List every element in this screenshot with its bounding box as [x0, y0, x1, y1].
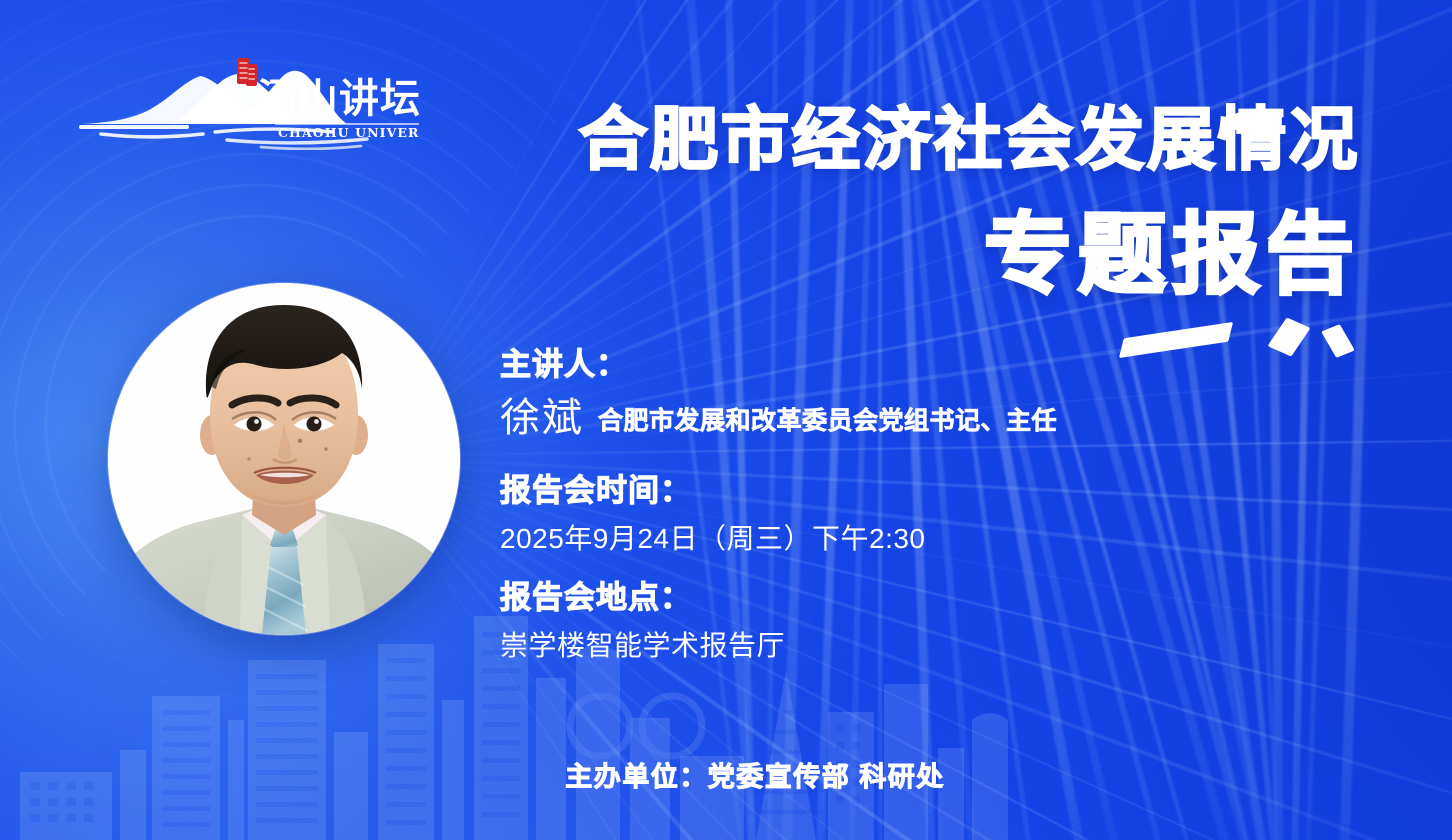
time-value: 2025年9月24日（周三）下午2:30 — [500, 521, 1330, 557]
svg-text:CHAOHU UNIVERSITY: CHAOHU UNIVERSITY — [278, 125, 420, 140]
organizer-footer: 主办单位：党委宣传部 科研处 — [0, 755, 1452, 794]
poster-title: 合肥市经济社会发展情况 专题报告 — [579, 104, 1360, 300]
venue-value: 崇学楼智能学术报告厅 — [500, 628, 1330, 664]
title-line-1: 合肥市经济社会发展情况 — [579, 104, 1360, 176]
title-line-2: 专题报告 — [579, 210, 1360, 300]
time-label: 报告会时间： — [500, 472, 1330, 510]
venue-label: 报告会地点： — [500, 579, 1330, 617]
poster-root: 汤山讲坛 CHAOHU UNIVERSITY 汤山讲坛 CHAOHU UNIVE… — [0, 0, 1452, 840]
speaker-label: 主讲人： — [500, 346, 1330, 384]
speaker-row: 徐斌 合肥市发展和改革委员会党组书记、主任 — [500, 396, 1330, 440]
speaker-name: 徐斌 — [500, 396, 584, 440]
chaohu-university-logo: 汤山讲坛 CHAOHU UNIVERSITY — [75, 52, 420, 150]
red-seal-icon — [237, 58, 257, 86]
lecture-details: 主讲人： 徐斌 合肥市发展和改革委员会党组书记、主任 报告会时间： 2025年9… — [500, 346, 1330, 664]
speaker-portrait — [108, 283, 460, 635]
speaker-position: 合肥市发展和改革委员会党组书记、主任 — [598, 401, 1057, 437]
svg-text:汤山讲坛: 汤山讲坛 — [257, 76, 420, 122]
